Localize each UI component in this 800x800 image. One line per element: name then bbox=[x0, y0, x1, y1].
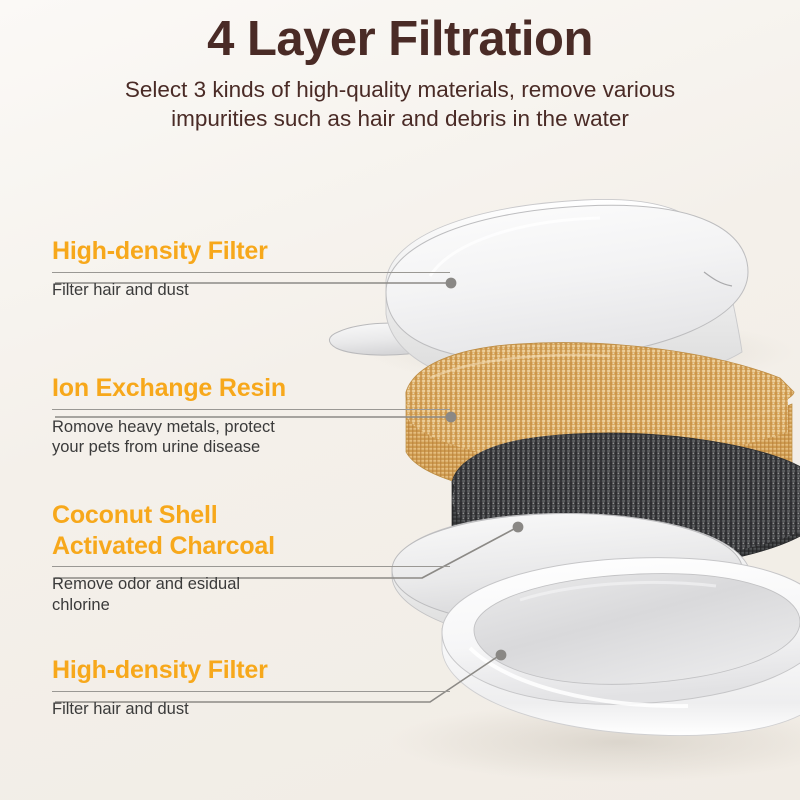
charcoal-mesh-wall bbox=[452, 478, 800, 572]
resin-mesh-sheen bbox=[430, 355, 610, 378]
callout-title: Ion Exchange Resin bbox=[52, 373, 450, 404]
callout-title: Coconut Shell Activated Charcoal bbox=[52, 500, 450, 561]
callout-title: High-density Filter bbox=[52, 655, 450, 686]
callout-coconut-shell-activated-charcoal: Coconut Shell Activated Charcoal Remove … bbox=[52, 500, 450, 616]
tray-inner-highlight bbox=[520, 582, 716, 600]
connector-dot-2 bbox=[513, 522, 524, 533]
tray-wall bbox=[442, 628, 800, 736]
header: 4 Layer Filtration Select 3 kinds of hig… bbox=[0, 0, 800, 134]
page-title: 4 Layer Filtration bbox=[0, 0, 800, 66]
filter-disc-highlight bbox=[430, 218, 600, 276]
tray-rim bbox=[442, 558, 800, 705]
shadow-bottom bbox=[390, 702, 800, 782]
callout-description: Filter hair and dust bbox=[52, 692, 450, 720]
callout-description: Remove odor and esidual chlorine bbox=[52, 567, 450, 616]
charcoal-mesh-face bbox=[452, 433, 800, 524]
tray-rim-highlight bbox=[470, 648, 688, 706]
tray-basin bbox=[474, 574, 800, 685]
layer-charcoal-mesh bbox=[440, 424, 800, 574]
page-subtitle: Select 3 kinds of high-quality materials… bbox=[90, 66, 710, 134]
resin-mesh-face bbox=[406, 343, 794, 442]
callout-high-density-filter-top: High-density Filter Filter hair and dust bbox=[52, 236, 450, 300]
callout-description: Romove heavy metals, protect your pets f… bbox=[52, 410, 450, 459]
connector-dot-3 bbox=[496, 650, 507, 661]
callout-title: High-density Filter bbox=[52, 236, 450, 267]
callout-description: Filter hair and dust bbox=[52, 273, 450, 301]
callout-high-density-filter-bottom: High-density Filter Filter hair and dust bbox=[52, 655, 450, 719]
layer-bottom-white-tray bbox=[442, 558, 800, 736]
callout-ion-exchange-resin: Ion Exchange Resin Romove heavy metals, … bbox=[52, 373, 450, 458]
filter-disc-notch bbox=[704, 272, 732, 286]
infographic-canvas: 4 Layer Filtration Select 3 kinds of hig… bbox=[0, 0, 800, 800]
resin-mesh-wall bbox=[406, 392, 792, 499]
filter-tab bbox=[329, 323, 446, 355]
layer-golden-resin-mesh bbox=[390, 336, 800, 499]
